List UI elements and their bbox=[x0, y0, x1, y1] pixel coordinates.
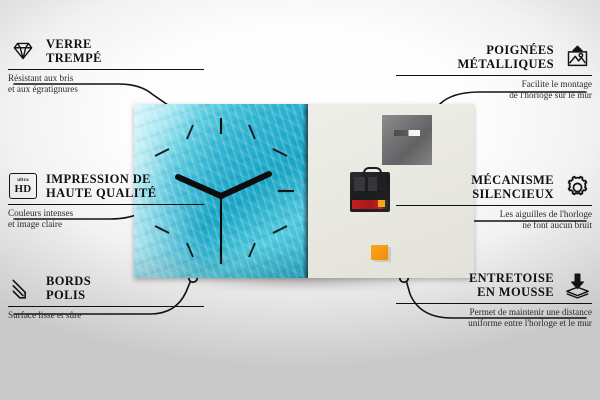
polished-edges-icon bbox=[8, 273, 38, 303]
divider bbox=[396, 205, 592, 206]
tick-2 bbox=[273, 149, 287, 156]
ultra-hd-icon-main-text: HD bbox=[14, 184, 31, 195]
feature-header: BORDS POLIS bbox=[8, 273, 204, 303]
feature-subtitle-line2: ne font aucun bruit bbox=[396, 220, 592, 231]
feature-title: IMPRESSION DE HAUTE QUALITÉ bbox=[46, 172, 156, 200]
minute-hand bbox=[221, 174, 269, 196]
feature-title: ENTRETOISE EN MOUSSE bbox=[469, 271, 554, 299]
feature-header: POIGNÉES MÉTALLIQUES bbox=[396, 42, 592, 72]
feature-subtitle-line1: Permet de maintenir une distance bbox=[396, 307, 592, 318]
feature-impression-haute-qualite: ultra HD IMPRESSION DE HAUTE QUALITÉ Cou… bbox=[8, 171, 204, 230]
feature-header: ultra HD IMPRESSION DE HAUTE QUALITÉ bbox=[8, 171, 204, 201]
tick-11 bbox=[187, 125, 193, 139]
quartz-movement bbox=[350, 172, 390, 212]
tick-4 bbox=[273, 226, 287, 233]
feature-header: ENTRETOISE EN MOUSSE bbox=[396, 270, 592, 300]
feature-title: MÉCANISME SILENCIEUX bbox=[471, 173, 554, 201]
feature-title: POIGNÉES MÉTALLIQUES bbox=[457, 43, 554, 71]
tick-10 bbox=[155, 149, 169, 156]
infographic-canvas: VERRE TREMPÉ Résistant aux bris et aux é… bbox=[0, 0, 600, 400]
ultra-hd-icon: ultra HD bbox=[8, 171, 38, 201]
feature-verre-trempe: VERRE TREMPÉ Résistant aux bris et aux é… bbox=[8, 36, 204, 95]
feature-bords-polis: BORDS POLIS Surface lisse et sûre bbox=[8, 273, 204, 321]
feature-header: MÉCANISME SILENCIEUX bbox=[396, 172, 592, 202]
feature-subtitle-line1: Résistant aux bris bbox=[8, 73, 204, 84]
feature-subtitle-line1: Surface lisse et sûre bbox=[8, 310, 204, 321]
feature-subtitle-line2: et aux égratignures bbox=[8, 84, 204, 95]
divider bbox=[396, 75, 592, 76]
feature-subtitle-line2: de l'horloge sur le mur bbox=[396, 90, 592, 101]
feature-subtitle-line1: Facilite le montage bbox=[396, 79, 592, 90]
tick-7 bbox=[187, 243, 193, 257]
metal-hanger-plate bbox=[382, 115, 432, 165]
feature-subtitle-line2: uniforme entre l'horloge et le mur bbox=[396, 318, 592, 329]
foam-spacer bbox=[371, 245, 388, 260]
diamond-icon bbox=[8, 36, 38, 66]
ultra-hd-icon-top-text: ultra bbox=[17, 178, 29, 183]
divider bbox=[8, 306, 204, 307]
arrow-on-layers-icon bbox=[562, 270, 592, 300]
feature-mecanisme-silencieux: MÉCANISME SILENCIEUX Les aiguilles de l'… bbox=[396, 172, 592, 231]
tick-1 bbox=[249, 125, 255, 139]
feature-title: BORDS POLIS bbox=[46, 274, 91, 302]
framed-picture-hanging-icon bbox=[562, 42, 592, 72]
hand-hub bbox=[218, 193, 225, 200]
battery-terminal bbox=[378, 200, 385, 207]
divider bbox=[396, 303, 592, 304]
feature-subtitle-line1: Les aiguilles de l'horloge bbox=[396, 209, 592, 220]
feature-header: VERRE TREMPÉ bbox=[8, 36, 204, 66]
movement-housing-detail bbox=[354, 177, 386, 191]
gear-icon bbox=[562, 172, 592, 202]
divider bbox=[8, 204, 204, 205]
feature-poignees-metalliques: POIGNÉES MÉTALLIQUES Facilite le montage… bbox=[396, 42, 592, 101]
hanger-slot bbox=[394, 130, 420, 136]
movement-hook bbox=[363, 167, 382, 177]
divider bbox=[8, 69, 204, 70]
feature-subtitle-line1: Couleurs intenses bbox=[8, 208, 204, 219]
feature-title: VERRE TREMPÉ bbox=[46, 37, 102, 65]
feature-entretoise-en-mousse: ENTRETOISE EN MOUSSE Permet de maintenir… bbox=[396, 270, 592, 329]
tick-5 bbox=[249, 243, 255, 257]
battery bbox=[352, 200, 388, 209]
feature-subtitle-line2: et image claire bbox=[8, 219, 204, 230]
